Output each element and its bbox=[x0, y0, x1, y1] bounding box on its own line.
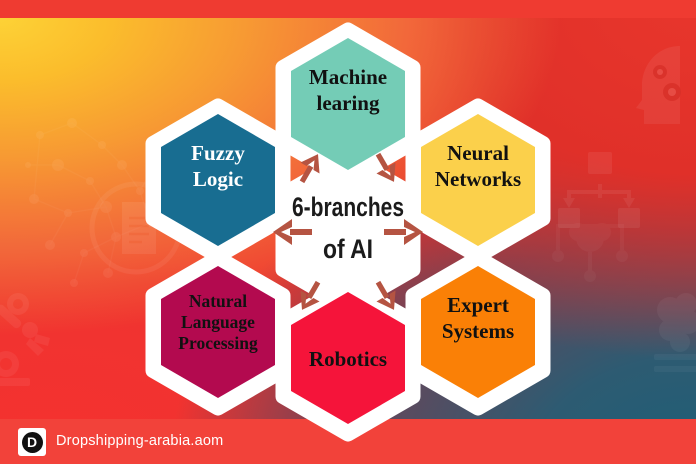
center-title-line1: 6-branches bbox=[292, 192, 404, 222]
center-title-line2: of AI bbox=[323, 234, 373, 264]
site-watermark-text: Dropshipping-arabia.aom bbox=[56, 433, 223, 449]
six-branches-diagram: Machine learing Neural Networks Expert S… bbox=[0, 0, 696, 464]
site-logo-letter: D bbox=[22, 432, 43, 453]
site-logo: D bbox=[18, 428, 46, 456]
infographic-canvas: Machine learing Neural Networks Expert S… bbox=[0, 0, 696, 464]
